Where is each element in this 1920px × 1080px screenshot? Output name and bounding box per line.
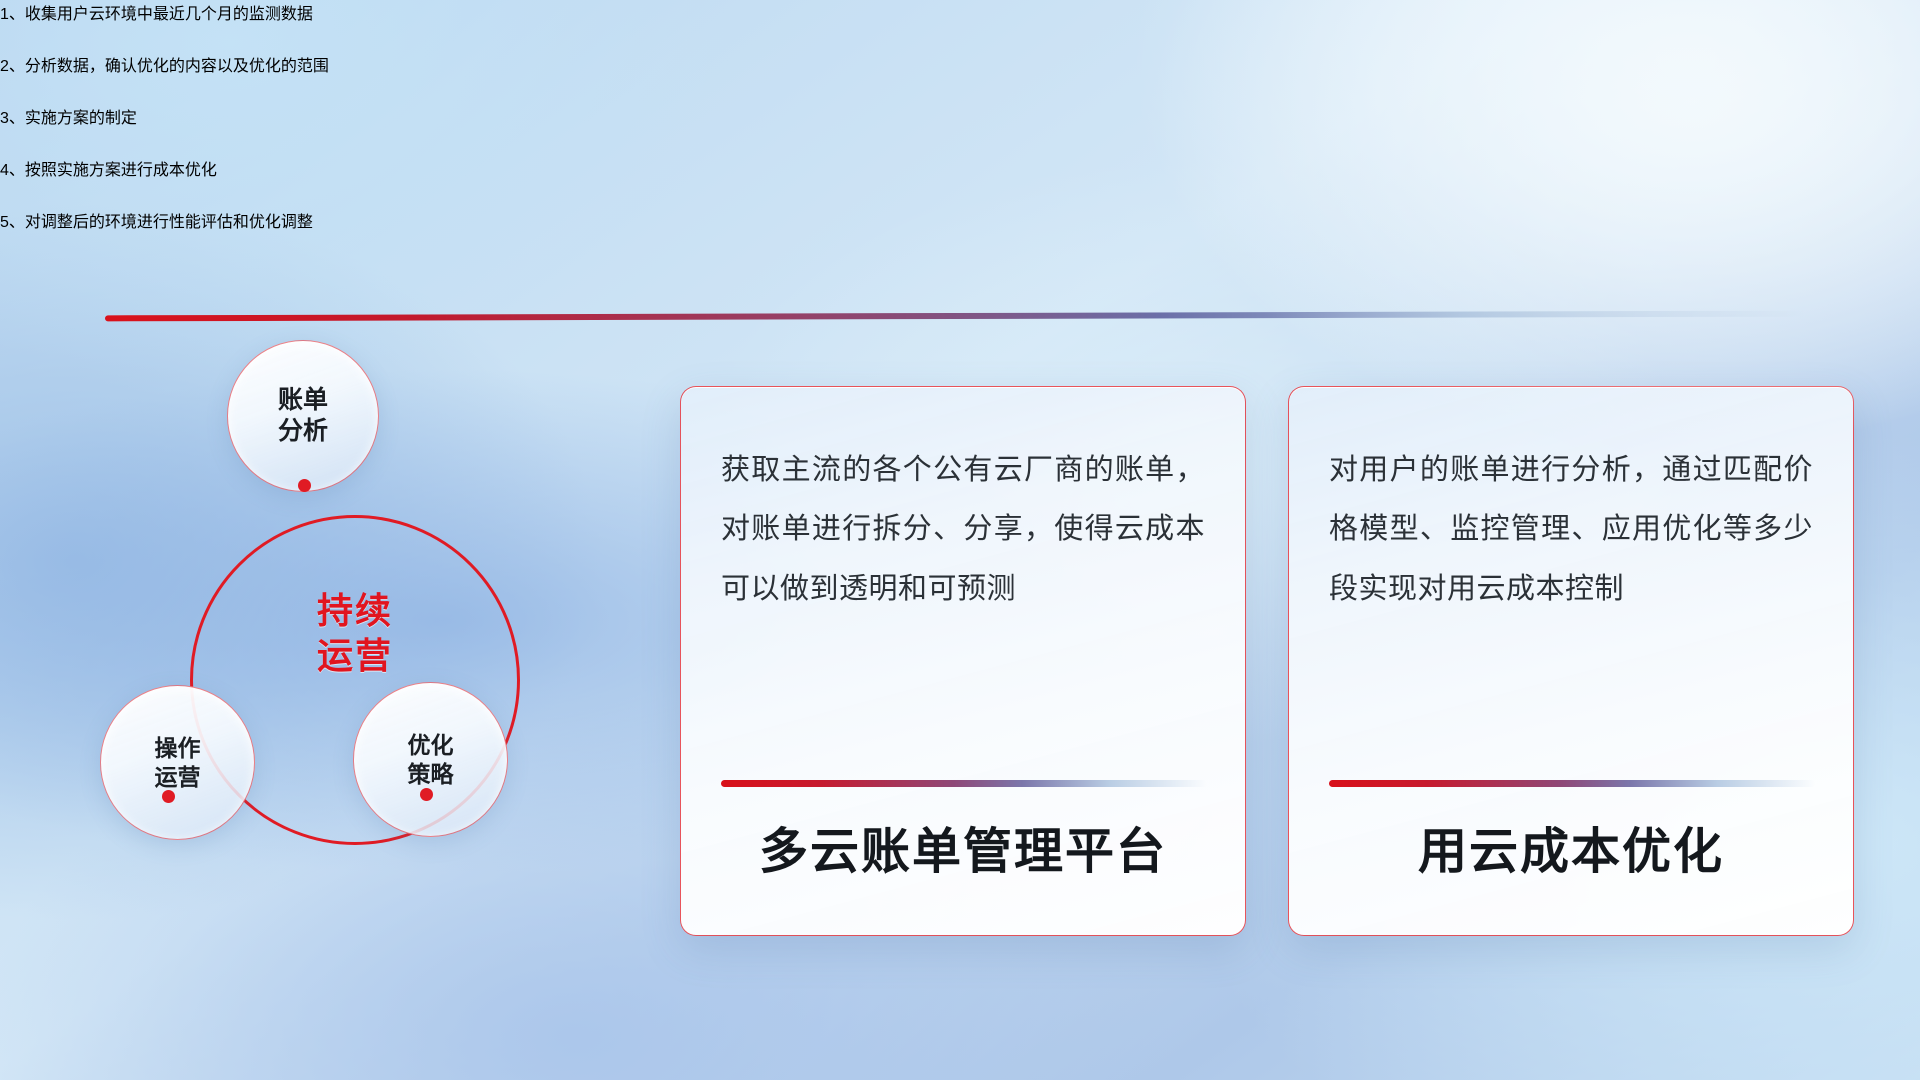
slide-background: 1、收集用户云环境中最近几个月的监测数据 2、分析数据，确认优化的内容以及优化的… bbox=[0, 0, 1920, 1080]
card-1-divider bbox=[721, 780, 1207, 787]
step-item-2: 2、分析数据，确认优化的内容以及优化的范围 bbox=[0, 52, 1920, 76]
venn-center-label: 持续 运营 bbox=[260, 588, 450, 679]
venn-bubble-right-line1: 优化 bbox=[408, 731, 454, 760]
venn-bubble-right-line2: 策略 bbox=[408, 760, 454, 789]
card-2-body: 对用户的账单进行分析，通过匹配价格模型、监控管理、应用优化等多少段实现对用云成本… bbox=[1329, 441, 1813, 619]
step-item-3: 3、实施方案的制定 bbox=[0, 104, 1920, 128]
venn-node-dot-top bbox=[298, 479, 311, 492]
venn-node-dot-left bbox=[162, 790, 175, 803]
venn-bubble-top-line2: 分析 bbox=[278, 416, 328, 447]
venn-center-line2: 运营 bbox=[260, 633, 450, 678]
card-multicloud-billing-platform[interactable]: 获取主流的各个公有云厂商的账单，对账单进行拆分、分享，使得云成本可以做到透明和可… bbox=[680, 386, 1246, 936]
step-item-4: 4、按照实施方案进行成本优化 bbox=[0, 156, 1920, 180]
steps-list-left: 1、收集用户云环境中最近几个月的监测数据 2、分析数据，确认优化的内容以及优化的… bbox=[0, 0, 1920, 128]
venn-bubble-left-line2: 运营 bbox=[155, 763, 201, 792]
card-1-title: 多云账单管理平台 bbox=[681, 812, 1245, 883]
card-2-title: 用云成本优化 bbox=[1289, 812, 1853, 883]
steps-list-right: 4、按照实施方案进行成本优化 5、对调整后的环境进行性能评估和优化调整 bbox=[0, 156, 1920, 232]
venn-bubble-top-line1: 账单 bbox=[278, 385, 328, 416]
venn-center-line1: 持续 bbox=[260, 588, 450, 633]
step-item-1: 1、收集用户云环境中最近几个月的监测数据 bbox=[0, 0, 1920, 24]
venn-node-dot-right bbox=[420, 788, 433, 801]
venn-bubble-optimization-strategy[interactable]: 优化 策略 bbox=[353, 682, 508, 837]
venn-diagram: 账单 分析 操作 运营 优化 策略 持续 运营 bbox=[100, 340, 570, 960]
section-divider-rule bbox=[105, 311, 1805, 322]
card-cloud-cost-optimization[interactable]: 对用户的账单进行分析，通过匹配价格模型、监控管理、应用优化等多少段实现对用云成本… bbox=[1288, 386, 1854, 936]
card-1-body: 获取主流的各个公有云厂商的账单，对账单进行拆分、分享，使得云成本可以做到透明和可… bbox=[721, 441, 1205, 619]
venn-bubble-operations[interactable]: 操作 运营 bbox=[100, 685, 255, 840]
venn-bubble-billing-analysis[interactable]: 账单 分析 bbox=[227, 340, 379, 492]
card-2-divider bbox=[1329, 780, 1815, 787]
venn-bubble-left-line1: 操作 bbox=[155, 734, 201, 763]
step-item-5: 5、对调整后的环境进行性能评估和优化调整 bbox=[0, 208, 1920, 232]
